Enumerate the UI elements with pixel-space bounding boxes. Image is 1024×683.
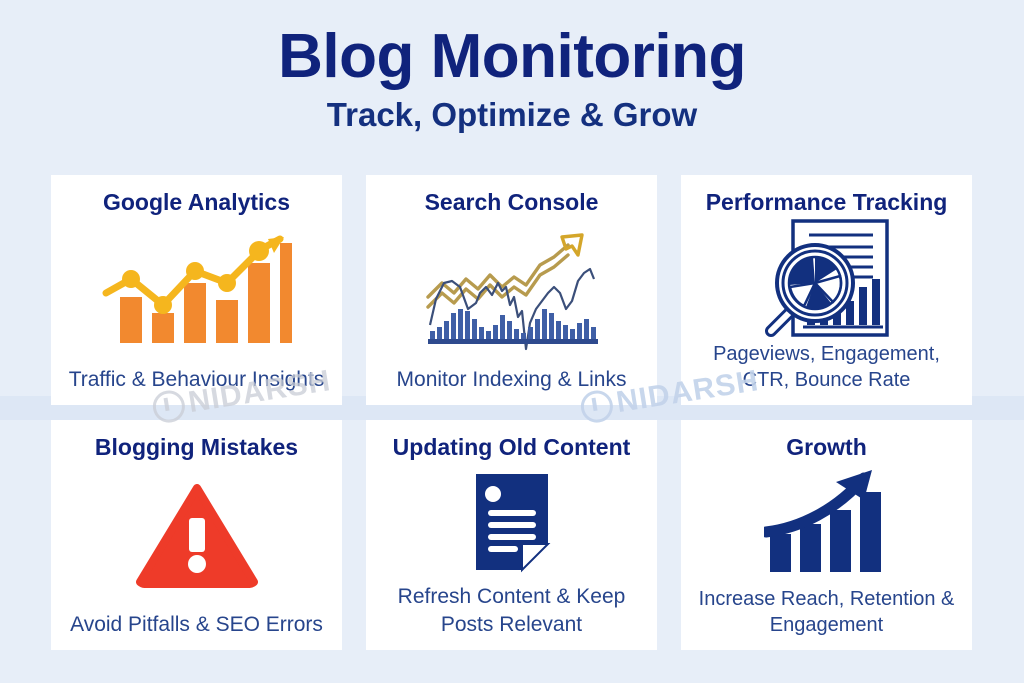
card-blogging-mistakes[interactable]: Blogging Mistakes Avoid Pitfalls & SEO E… [51,420,342,650]
card-title: Search Console [425,189,599,215]
card-title: Updating Old Content [393,434,631,460]
growth-arrow-bars-icon [687,460,966,586]
card-description: Avoid Pitfalls & SEO Errors [64,611,329,640]
warning-triangle-icon [57,460,336,610]
card-growth[interactable]: Growth Increase Reach, Retention & Engag… [681,420,972,650]
card-title: Google Analytics [103,189,290,215]
page-subtitle: Track, Optimize & Grow [0,97,1024,133]
card-title: Growth [786,434,867,460]
watermark-logo-icon [151,388,188,425]
card-description: Refresh Content & Keep Posts Relevant [372,583,651,640]
page-title: Blog Monitoring [0,24,1024,89]
card-description: Increase Reach, Retention & Engagement [687,586,966,640]
card-title: Performance Tracking [706,189,948,215]
page-header: Blog Monitoring Track, Optimize & Grow [0,24,1024,133]
bar-chart-trend-icon [57,215,336,365]
card-search-console[interactable]: Search Console [366,175,657,405]
card-updating-old-content[interactable]: Updating Old Content Refresh Content & K… [366,420,657,650]
infographic-page: Blog Monitoring Track, Optimize & Grow N… [0,0,1024,683]
line-histogram-trend-icon [372,215,651,365]
document-magnifier-pie-icon [687,215,966,341]
card-title: Blogging Mistakes [95,434,298,460]
document-lines-icon [372,460,651,583]
watermark-logo-icon [579,388,616,425]
